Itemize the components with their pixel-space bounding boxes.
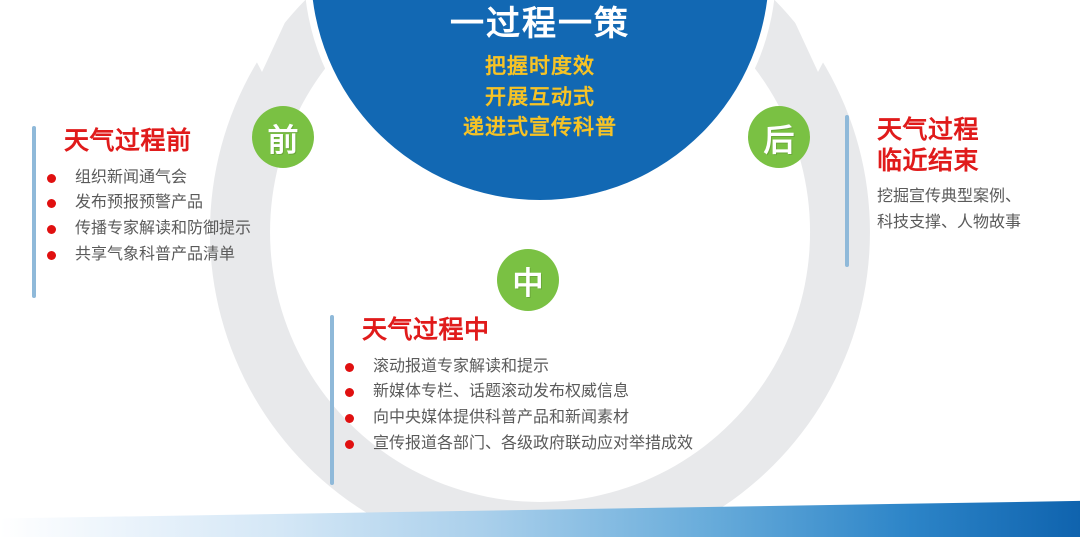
list-item: 组织新闻通气会 xyxy=(54,165,251,191)
section-during: 天气过程中 滚动报道专家解读和提示 新媒体专栏、话题滚动发布权威信息 向中央媒体… xyxy=(330,315,693,457)
section-after-text-line-2: 科技支撑、人物故事 xyxy=(877,210,1021,236)
center-disc-content: 一过程一策 把握时度效 开展互动式 递进式宣传科普 xyxy=(311,0,769,200)
section-before-inner: 天气过程前 组织新闻通气会 发布预报预警产品 传播专家解读和防御提示 共享气象科… xyxy=(32,126,251,268)
section-before: 天气过程前 组织新闻通气会 发布预报预警产品 传播专家解读和防御提示 共享气象科… xyxy=(32,126,251,268)
list-item: 传播专家解读和防御提示 xyxy=(54,216,251,242)
section-before-heading: 天气过程前 xyxy=(64,126,251,157)
section-after-heading-line-1: 天气过程 xyxy=(877,115,1021,146)
section-after-text-line-1: 挖掘宣传典型案例、 xyxy=(877,184,1021,210)
infographic-canvas: 一过程一策 把握时度效 开展互动式 递进式宣传科普 前 后 中 天气过程前 组织… xyxy=(0,0,1080,537)
center-subtitle: 把握时度效 开展互动式 递进式宣传科普 xyxy=(463,52,617,143)
section-during-accent-bar xyxy=(330,315,334,485)
arrowhead-left-icon xyxy=(222,0,300,72)
section-after-text: 挖掘宣传典型案例、 科技支撑、人物故事 xyxy=(877,184,1021,236)
bottom-gradient-band xyxy=(0,493,1080,537)
list-item: 共享气象科普产品清单 xyxy=(54,242,251,268)
center-blue-disc: 一过程一策 把握时度效 开展互动式 递进式宣传科普 xyxy=(311,0,769,200)
stage-badge-during: 中 xyxy=(497,249,559,311)
section-before-list: 组织新闻通气会 发布预报预警产品 传播专家解读和防御提示 共享气象科普产品清单 xyxy=(54,165,251,269)
list-item: 发布预报预警产品 xyxy=(54,190,251,216)
section-after-accent-bar xyxy=(845,115,849,267)
list-item: 宣传报道各部门、各级政府联动应对举措成效 xyxy=(352,431,693,457)
list-item: 滚动报道专家解读和提示 xyxy=(352,354,693,380)
section-after-heading: 天气过程 临近结束 xyxy=(877,115,1021,176)
center-subtitle-line-1: 把握时度效 xyxy=(463,52,617,82)
section-before-accent-bar xyxy=(32,126,36,298)
section-during-heading: 天气过程中 xyxy=(362,315,693,346)
list-item: 新媒体专栏、话题滚动发布权威信息 xyxy=(352,379,693,405)
center-subtitle-line-2: 开展互动式 xyxy=(463,83,617,113)
section-after-inner: 天气过程 临近结束 挖掘宣传典型案例、 科技支撑、人物故事 xyxy=(845,115,1021,236)
section-after: 天气过程 临近结束 挖掘宣传典型案例、 科技支撑、人物故事 xyxy=(845,115,1021,236)
arrowhead-right-icon xyxy=(780,0,858,72)
section-during-inner: 天气过程中 滚动报道专家解读和提示 新媒体专栏、话题滚动发布权威信息 向中央媒体… xyxy=(330,315,693,457)
section-after-heading-line-2: 临近结束 xyxy=(877,146,1021,177)
center-subtitle-line-3: 递进式宣传科普 xyxy=(463,113,617,143)
list-item: 向中央媒体提供科普产品和新闻素材 xyxy=(352,405,693,431)
stage-badge-after: 后 xyxy=(748,106,810,168)
stage-badge-before: 前 xyxy=(252,106,314,168)
center-title: 一过程一策 xyxy=(450,6,630,43)
section-during-list: 滚动报道专家解读和提示 新媒体专栏、话题滚动发布权威信息 向中央媒体提供科普产品… xyxy=(352,354,693,458)
